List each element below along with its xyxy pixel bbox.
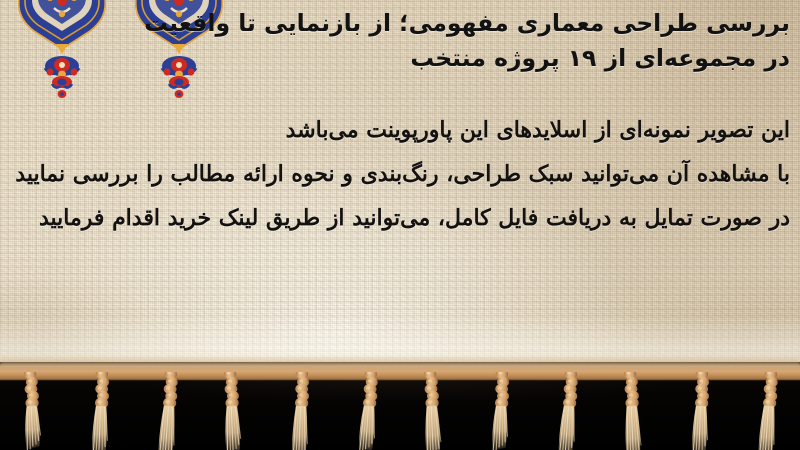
- fringe-tassel: [352, 372, 382, 450]
- fringe-tassel: [18, 372, 48, 450]
- body-line-1: این تصویر نمونه‌ای از اسلایدهای این پاور…: [90, 108, 790, 152]
- fringe-cord-band: [0, 362, 800, 380]
- fringe-tassel: [752, 372, 782, 450]
- slide-title: بررسی طراحی معماری مفهومی؛ از بازنمایی ت…: [190, 6, 790, 76]
- fringe-tassel: [485, 372, 515, 450]
- body-line-3: در صورت تمایل به دریافت فایل کامل، می‌تو…: [90, 196, 790, 240]
- fringe-tassel: [285, 372, 315, 450]
- carpet-fringe: [0, 350, 800, 450]
- fringe-tassel: [618, 372, 648, 450]
- title-line-2: در مجموعه‌ای از ۱۹ پروژه منتخب: [190, 41, 790, 76]
- slide-body-text: این تصویر نمونه‌ای از اسلایدهای این پاور…: [90, 108, 790, 240]
- body-line-2: با مشاهده آن می‌توانید سبک طراحی، رنگ‌بن…: [90, 152, 790, 196]
- presentation-slide: بررسی طراحی معماری مفهومی؛ از بازنمایی ت…: [0, 0, 800, 450]
- fringe-tassel: [218, 372, 248, 450]
- fringe-tassel: [685, 372, 715, 450]
- fringe-tassel: [418, 372, 448, 450]
- fringe-tassel: [152, 372, 182, 450]
- fringe-tassel: [552, 372, 582, 450]
- title-line-1: بررسی طراحی معماری مفهومی؛ از بازنمایی ت…: [190, 6, 790, 41]
- fringe-tassel: [85, 372, 115, 450]
